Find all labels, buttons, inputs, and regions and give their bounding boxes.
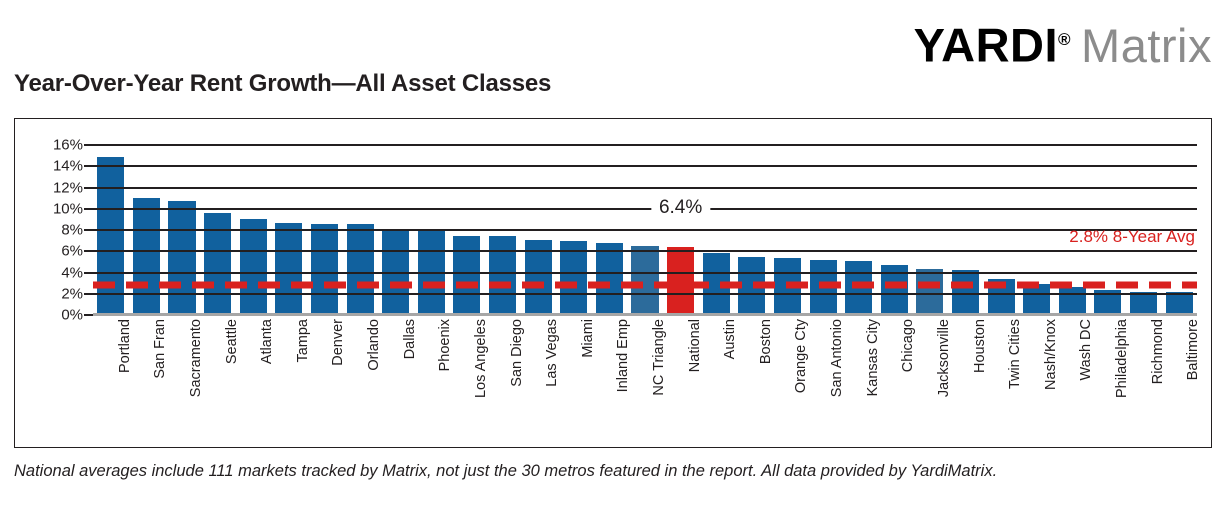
y-tick-label: 2%	[61, 285, 83, 302]
bar-san-fran[interactable]	[133, 198, 160, 315]
gridline	[93, 293, 1197, 295]
x-label-wash-dc: Wash DC	[1078, 319, 1094, 381]
x-label-seattle: Seattle	[224, 319, 240, 364]
gridline	[93, 229, 1197, 231]
bar-los-angeles[interactable]	[453, 236, 480, 315]
y-axis: 0%2%4%6%8%10%12%14%16%	[15, 119, 93, 341]
x-label-twin-cities: Twin Cities	[1007, 319, 1023, 389]
x-label-atlanta: Atlanta	[259, 319, 275, 364]
x-label-dallas: Dallas	[402, 319, 418, 359]
bar-nash-knox[interactable]	[1023, 284, 1050, 315]
average-annotation-label: 2.8% 8-Year Avg	[1069, 227, 1195, 247]
y-tick-label: 0%	[61, 307, 83, 324]
x-label-las-vegas: Las Vegas	[544, 319, 560, 387]
y-tick-mark	[84, 250, 93, 252]
x-label-phoenix: Phoenix	[437, 319, 453, 371]
chart-frame: 0%2%4%6%8%10%12%14%16% 2.8% 8-Year Avg6.…	[14, 118, 1212, 448]
x-label-houston: Houston	[972, 319, 988, 373]
registered-trademark-icon: ®	[1058, 30, 1071, 49]
x-label-inland-emp: Inland Emp	[615, 319, 631, 392]
bar-orlando[interactable]	[347, 224, 374, 315]
yardi-matrix-logo: YARDI®Matrix	[914, 16, 1212, 69]
x-label-orange-cty: Orange Cty	[793, 319, 809, 393]
x-label-nc-triangle: NC Triangle	[651, 319, 667, 396]
gridline	[93, 165, 1197, 167]
x-label-orlando: Orlando	[366, 319, 382, 371]
plot-area: 2.8% 8-Year Avg6.4%	[93, 145, 1197, 315]
x-label-jacksonville: Jacksonville	[936, 319, 952, 397]
y-tick-mark	[84, 314, 93, 316]
national-value-callout: 6.4%	[651, 197, 710, 219]
y-tick-label: 12%	[53, 179, 83, 196]
x-label-sacramento: Sacramento	[188, 319, 204, 397]
y-tick-label: 14%	[53, 158, 83, 175]
y-tick-mark	[84, 272, 93, 274]
bar-inland-emp[interactable]	[596, 243, 623, 315]
bar-atlanta[interactable]	[240, 219, 267, 315]
y-tick-mark	[84, 187, 93, 189]
bar-tampa[interactable]	[275, 223, 302, 315]
x-label-national: National	[687, 319, 703, 372]
x-label-richmond: Richmond	[1150, 319, 1166, 384]
page-title: Year-Over-Year Rent Growth—All Asset Cla…	[14, 70, 551, 98]
x-label-san-diego: San Diego	[509, 319, 525, 387]
bar-sacramento[interactable]	[168, 201, 195, 315]
y-tick-mark	[84, 144, 93, 146]
x-label-san-fran: San Fran	[152, 319, 168, 379]
y-tick-mark	[84, 165, 93, 167]
x-label-denver: Denver	[330, 319, 346, 366]
y-tick-label: 6%	[61, 243, 83, 260]
bar-nc-triangle[interactable]	[631, 246, 658, 315]
x-label-tampa: Tampa	[295, 319, 311, 363]
y-tick-mark	[84, 229, 93, 231]
x-axis-labels: PortlandSan FranSacramentoSeattleAtlanta…	[93, 319, 1197, 447]
brand-matrix: Matrix	[1081, 19, 1212, 72]
y-tick-mark	[84, 293, 93, 295]
x-label-kansas-city: Kansas City	[865, 319, 881, 396]
bar-richmond[interactable]	[1130, 292, 1157, 315]
y-tick-label: 10%	[53, 200, 83, 217]
gridline	[93, 144, 1197, 146]
bar-denver[interactable]	[311, 224, 338, 315]
gridline	[93, 208, 1197, 210]
x-label-austin: Austin	[722, 319, 738, 359]
bar-wash-dc[interactable]	[1059, 287, 1086, 315]
x-label-boston: Boston	[758, 319, 774, 364]
footnote: National averages include 111 markets tr…	[14, 462, 997, 481]
x-label-philadelphia: Philadelphia	[1114, 319, 1130, 398]
y-tick-mark	[84, 208, 93, 210]
y-tick-label: 16%	[53, 137, 83, 154]
x-label-los-angeles: Los Angeles	[473, 319, 489, 398]
brand-yardi: YARDI	[914, 19, 1058, 72]
x-axis-baseline	[93, 313, 1197, 316]
x-label-baltimore: Baltimore	[1185, 319, 1201, 380]
eight-year-average-line	[93, 282, 1197, 289]
x-label-san-antonio: San Antonio	[829, 319, 845, 397]
y-tick-label: 4%	[61, 264, 83, 281]
x-label-miami: Miami	[580, 319, 596, 358]
bar-portland[interactable]	[97, 157, 124, 315]
gridline	[93, 250, 1197, 252]
gridline	[93, 272, 1197, 274]
gridline	[93, 187, 1197, 189]
bar-baltimore[interactable]	[1166, 292, 1193, 315]
y-tick-label: 8%	[61, 222, 83, 239]
x-label-chicago: Chicago	[900, 319, 916, 372]
x-label-portland: Portland	[117, 319, 133, 373]
x-label-nash-knox: Nash/Knox	[1043, 319, 1059, 390]
bar-san-diego[interactable]	[489, 236, 516, 315]
